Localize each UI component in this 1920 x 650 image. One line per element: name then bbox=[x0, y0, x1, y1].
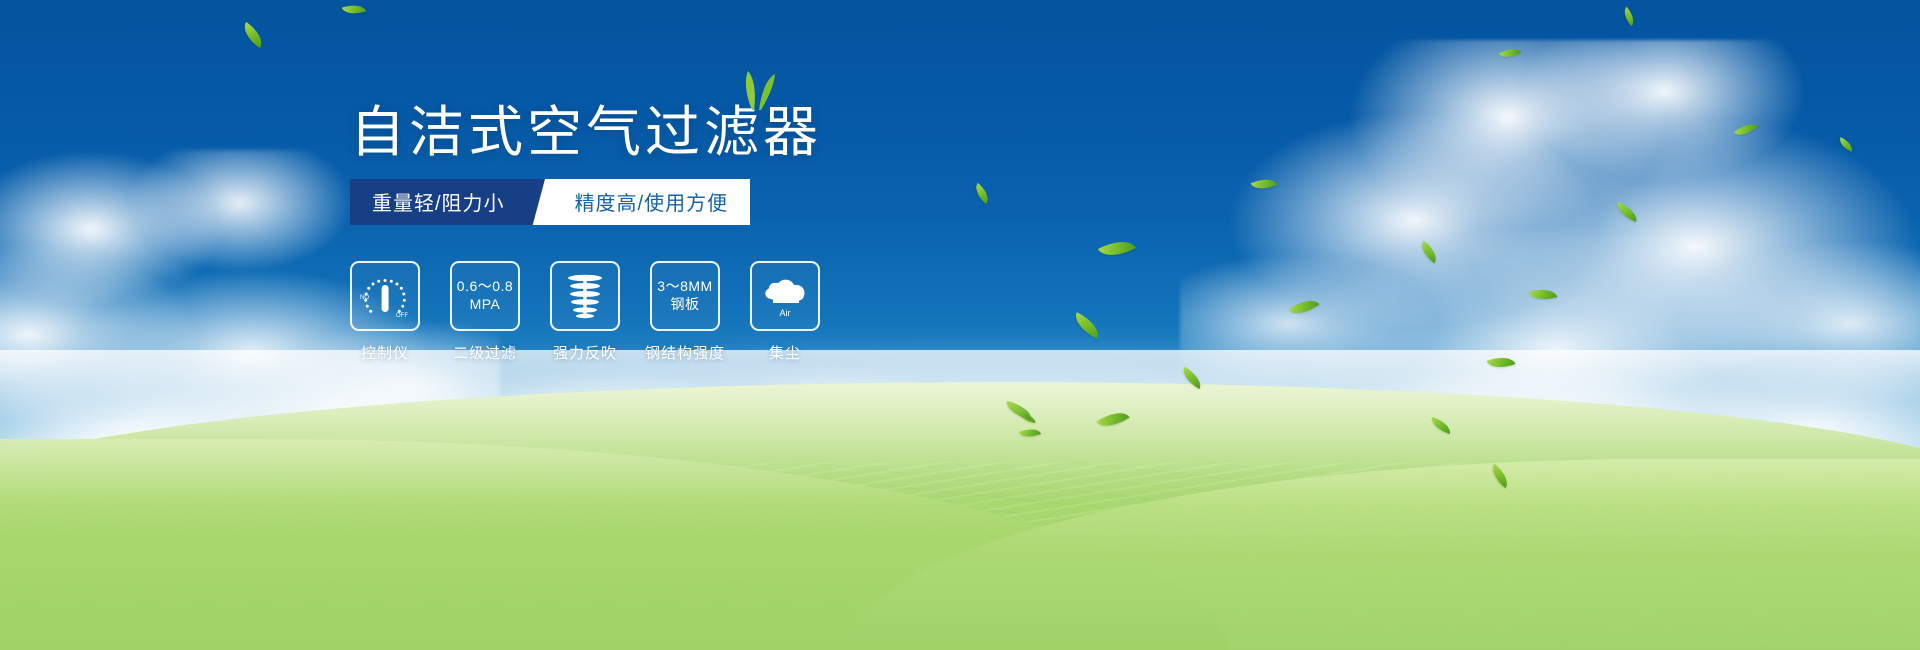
tagline-badges: 重量轻/阻力小 精度高/使用方便 bbox=[350, 179, 1050, 225]
feature-label: 集尘 bbox=[769, 342, 801, 363]
gauge-icon: NO OFF bbox=[358, 271, 412, 321]
feature-label: 控制仪 bbox=[361, 342, 409, 363]
feature-label: 钢结构强度 bbox=[645, 342, 725, 363]
steel-icon-text: 3～8MM钢板 bbox=[657, 278, 712, 313]
badge-precision-convenience: 精度高/使用方便 bbox=[553, 179, 751, 225]
feature-icon-box: NO OFF bbox=[350, 261, 420, 331]
feature-item-dust-collection[interactable]: Air 集尘 bbox=[750, 261, 820, 363]
feature-item-two-stage-filter[interactable]: 0.6～0.8MPA 二级过滤 bbox=[450, 261, 520, 363]
icon-text-line-1: 0.6～0.8 bbox=[457, 278, 513, 296]
blowback-icon bbox=[563, 271, 607, 321]
gauge-on-label: NO bbox=[360, 295, 369, 301]
feature-item-strong-blowback[interactable]: 强力反吹 bbox=[550, 261, 620, 363]
gauge-off-label: OFF bbox=[396, 313, 408, 319]
feature-label: 二级过滤 bbox=[453, 342, 517, 363]
feature-item-steel-strength[interactable]: 3～8MM钢板 钢结构强度 bbox=[650, 261, 720, 363]
air-cloud-icon: Air bbox=[758, 270, 812, 322]
page-title-wrap: 自洁式空气过滤器 bbox=[350, 104, 822, 162]
sprout-leaf-icon bbox=[732, 70, 780, 110]
page-title: 自洁式空气过滤器 bbox=[350, 104, 822, 162]
hero-banner: 自洁式空气过滤器 重量轻/阻力小 精度高/使用方便 bbox=[0, 0, 1920, 650]
badge-separator bbox=[527, 179, 553, 225]
icon-text-line-2: MPA bbox=[457, 296, 513, 314]
air-label: Air bbox=[780, 308, 791, 318]
feature-item-controller[interactable]: NO OFF 控制仪 bbox=[350, 261, 420, 363]
badge-weight-resistance: 重量轻/阻力小 bbox=[350, 179, 527, 225]
feature-icon-box: 3～8MM钢板 bbox=[650, 261, 720, 331]
hero-content: 自洁式空气过滤器 重量轻/阻力小 精度高/使用方便 bbox=[350, 104, 1050, 363]
icon-text-line-1: 3～8MM bbox=[657, 278, 712, 296]
feature-icon-box: 0.6～0.8MPA bbox=[450, 261, 520, 331]
feature-label: 强力反吹 bbox=[553, 342, 617, 363]
pressure-icon-text: 0.6～0.8MPA bbox=[457, 278, 513, 313]
feature-icon-box: Air bbox=[750, 261, 820, 331]
feature-icon-box bbox=[550, 261, 620, 331]
feature-list: NO OFF 控制仪 0.6～0.8MPA 二级过滤 bbox=[350, 261, 1050, 363]
icon-text-line-2: 钢板 bbox=[657, 296, 712, 314]
